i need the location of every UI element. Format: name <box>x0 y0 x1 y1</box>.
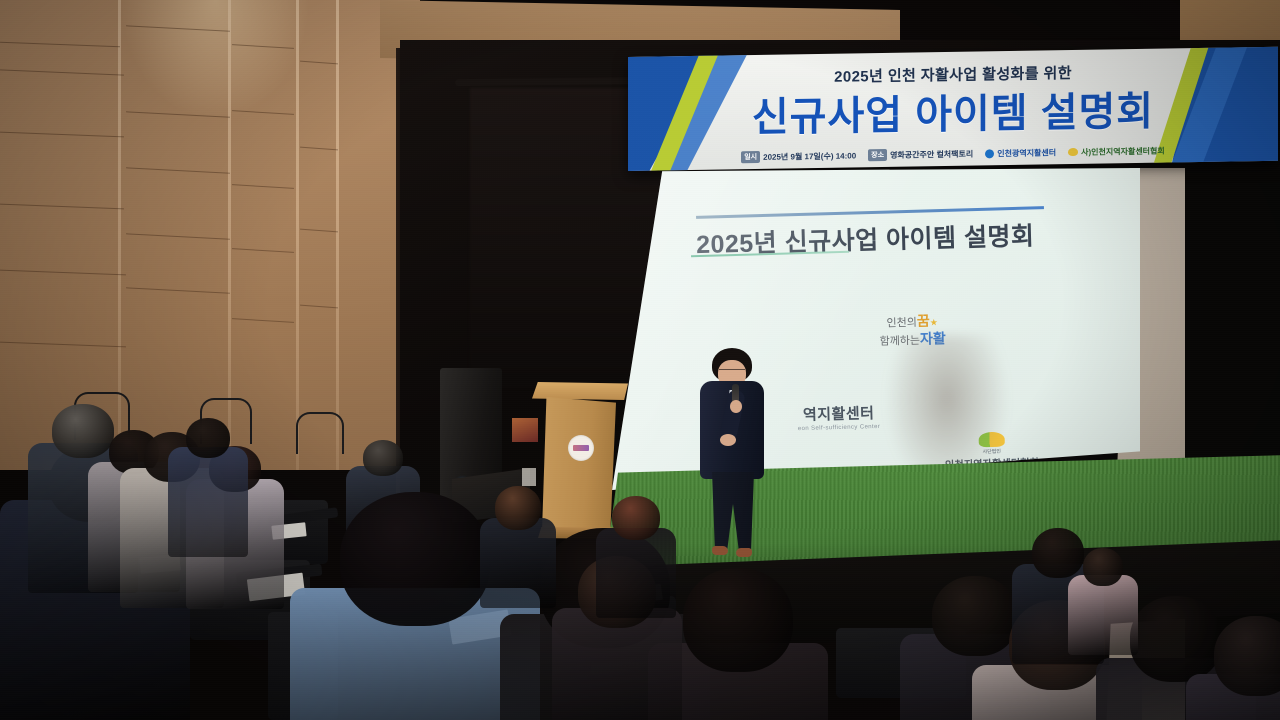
attendee-navy-back <box>168 418 248 528</box>
slogan-prefix-1: 인천의 <box>887 317 918 330</box>
attendee-right-far-head <box>1214 616 1280 696</box>
podium-emblem-icon <box>568 435 594 461</box>
banner-org2-label: 사)인천지역자활센터협회 <box>1081 145 1165 157</box>
auditorium-photo: 2025년 인천 자활사업 활성화를 위한 신규사업 아이템 설명회 일시 20… <box>0 0 1280 720</box>
presenter-shoe-right <box>736 548 752 557</box>
event-banner: 2025년 인천 자활사업 활성화를 위한 신규사업 아이템 설명회 일시 20… <box>628 47 1278 171</box>
attendee-brown-hair-torso <box>480 518 556 608</box>
banner-org1-label: 인천광역지활센터 <box>997 147 1056 159</box>
seat-rail <box>296 412 344 454</box>
banner-org2: 사)인천지역자활센터협회 <box>1068 145 1165 158</box>
banner-title: 신규사업 아이템 설명회 <box>628 77 1278 145</box>
attendee-brown-hair-head <box>495 486 541 530</box>
podium-top <box>532 382 628 400</box>
slogan-accent-1: 꿈 <box>917 312 930 328</box>
circle-logo-icon <box>985 149 994 158</box>
stage-small-poster <box>512 418 538 442</box>
banner-place: 장소 영화공간주안 컬처팩토리 <box>868 148 973 162</box>
star-icon: ★ <box>930 317 938 327</box>
attendee-red-hair <box>596 496 676 586</box>
attendee-pink-head <box>1083 548 1123 586</box>
presenter-trousers <box>708 472 758 552</box>
attendee-pink-torso <box>1068 575 1138 655</box>
wall-panel-seam <box>296 0 299 470</box>
banner-date: 일시 2025년 9월 17일(수) 14:00 <box>741 149 856 163</box>
wall-panel-seam <box>336 0 339 470</box>
attendee-red-hair-torso <box>596 528 676 618</box>
banner-org1: 인천광역지활센터 <box>985 147 1056 159</box>
attendee-navy-back-torso <box>168 447 248 557</box>
presenter-other-hand <box>720 434 736 446</box>
attendee-blue-shirt-head <box>340 492 490 626</box>
attendee-red-hair-head <box>612 496 660 540</box>
attendee-brown-hair <box>480 486 556 576</box>
wall-light-spill <box>120 0 310 120</box>
banner-place-value: 영화공간주안 컬처팩토리 <box>890 148 973 160</box>
presenter-shoe-left <box>712 546 728 555</box>
banner-place-tag: 장소 <box>868 149 887 161</box>
attendee-rear-left-head <box>363 440 403 476</box>
attendee-navy-back-head <box>186 418 230 458</box>
flower-logo-icon <box>1068 148 1078 156</box>
banner-date-value: 2025년 9월 17일(수) 14:00 <box>763 150 856 162</box>
attendee-ponytail-head <box>683 568 793 672</box>
presenter-hand-holding-mic <box>730 400 742 413</box>
attendee-pink <box>1068 548 1138 628</box>
stage-small-card <box>522 468 536 486</box>
attendee-right-far <box>1186 616 1280 720</box>
glasses-icon <box>719 369 745 376</box>
banner-date-tag: 일시 <box>741 151 760 163</box>
